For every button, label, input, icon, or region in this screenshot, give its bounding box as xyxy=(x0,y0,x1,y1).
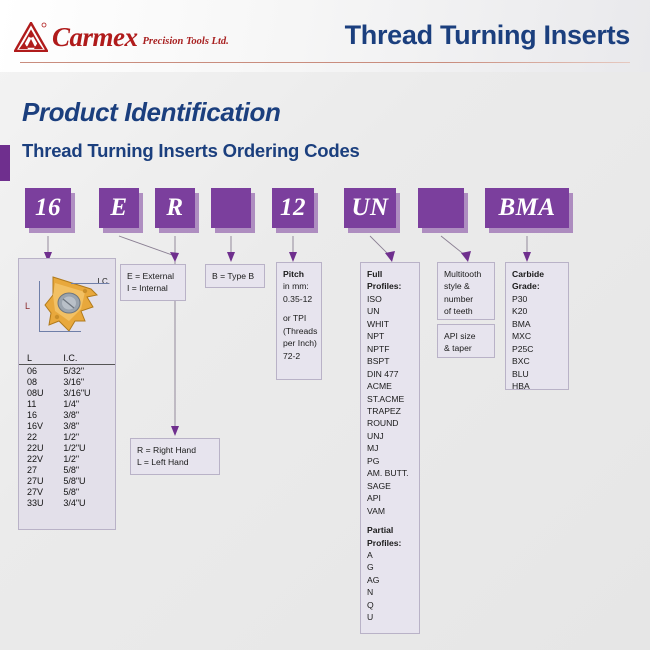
cell-l: 08 xyxy=(19,376,59,387)
table-header-l: L xyxy=(19,353,59,365)
cell-l: 16 xyxy=(19,409,59,420)
profile-item: DIN 477 xyxy=(367,368,413,380)
code-box-label: 16 xyxy=(35,194,61,222)
profile-item: UN xyxy=(367,305,413,317)
profile-item: SAGE xyxy=(367,480,413,492)
cell-l: 11 xyxy=(19,398,59,409)
profile-item: ACME xyxy=(367,380,413,392)
cell-ic: 3/8" xyxy=(59,420,115,431)
profile-item: NPTF xyxy=(367,343,413,355)
grade-item: K20 xyxy=(512,305,562,317)
dimension-line-vertical xyxy=(39,281,40,331)
profile-item: AM. BUTT. xyxy=(367,467,413,479)
partial-profile-item: U xyxy=(367,611,413,623)
partial-profile-item: G xyxy=(367,561,413,573)
table-row: 08U3/16"U xyxy=(19,387,115,398)
cell-ic: 5/32" xyxy=(59,365,115,377)
table-row: 111/4" xyxy=(19,398,115,409)
carmex-triangle-logo-icon xyxy=(14,22,48,52)
profile-item: API xyxy=(367,492,413,504)
code-box-label: E xyxy=(110,194,127,222)
hand-direction-box: R = Right Hand L = Left Hand xyxy=(130,438,220,475)
cell-ic: 1/2"U xyxy=(59,442,115,453)
partial-profiles-header-2: Profiles: xyxy=(367,537,413,549)
brand-tagline: Precision Tools Ltd. xyxy=(143,36,229,47)
pitch-tpi-label: or TPI xyxy=(283,312,315,324)
grade-list: P30K20BMAMXCP25CBXCBLUHBA xyxy=(512,293,562,393)
profiles-box: Full Profiles: ISOUNWHITNPTNPTFBSPTDIN 4… xyxy=(360,262,420,634)
dimension-line-horizontal xyxy=(39,331,81,332)
profile-item: ISO xyxy=(367,293,413,305)
table-header-ic: I.C. xyxy=(59,353,115,365)
code-box-grade[interactable]: BMA xyxy=(485,188,569,228)
grade-header-1: Carbide xyxy=(512,268,562,280)
multitooth-line-4: of teeth xyxy=(444,305,488,317)
cell-ic: 5/8"U xyxy=(59,475,115,486)
cell-ic: 1/2" xyxy=(59,453,115,464)
full-profiles-header-1: Full xyxy=(367,268,413,280)
left-hand-line: L = Left Hand xyxy=(137,456,213,468)
partial-profile-item: A xyxy=(367,549,413,561)
profile-item: PG xyxy=(367,455,413,467)
external-line: E = External xyxy=(127,270,179,282)
api-line-2: & taper xyxy=(444,342,488,354)
pitch-range-tpi: 72-2 xyxy=(283,350,315,362)
cell-ic: 3/16"U xyxy=(59,387,115,398)
code-box-hand[interactable]: E xyxy=(99,188,139,228)
table-row: 16V3/8" xyxy=(19,420,115,431)
grade-item: P25C xyxy=(512,343,562,355)
profiles-spacer xyxy=(367,517,413,524)
pitch-header: Pitch xyxy=(283,268,315,280)
multitooth-box: Multitooth style & number of teeth xyxy=(437,262,495,320)
cell-ic: 3/8" xyxy=(59,409,115,420)
partial-profiles-list: AGAGNQU xyxy=(367,549,413,624)
cell-ic: 5/8" xyxy=(59,486,115,497)
table-header-row: L I.C. xyxy=(19,353,115,365)
table-row: 27V5/8" xyxy=(19,486,115,497)
cell-ic: 3/4"U xyxy=(59,497,115,508)
pitch-spacer xyxy=(283,305,315,312)
multitooth-line-3: number xyxy=(444,293,488,305)
table-row: 221/2" xyxy=(19,431,115,442)
full-profiles-list: ISOUNWHITNPTNPTFBSPTDIN 477ACMEST.ACMETR… xyxy=(367,293,413,517)
code-box-multitooth[interactable] xyxy=(418,188,464,228)
code-box-size[interactable]: 16 xyxy=(25,188,71,228)
profile-item: TRAPEZ xyxy=(367,405,413,417)
cell-l: 16V xyxy=(19,420,59,431)
page-subtitle: Thread Turning Inserts Ordering Codes xyxy=(22,140,360,162)
brand-name: Carmex xyxy=(52,24,138,51)
grade-item: P30 xyxy=(512,293,562,305)
header-title: Thread Turning Inserts xyxy=(345,20,630,51)
cell-ic: 3/16" xyxy=(59,376,115,387)
page-title: Product Identification xyxy=(22,97,280,128)
cell-l: 27V xyxy=(19,486,59,497)
carbide-grade-box: Carbide Grade: P30K20BMAMXCP25CBXCBLUHBA xyxy=(505,262,569,390)
insert-figure: I.C. L xyxy=(19,259,115,351)
pitch-tpi-desc1: (Threads xyxy=(283,325,315,337)
code-box-pitch[interactable]: 12 xyxy=(272,188,314,228)
partial-profile-item: N xyxy=(367,586,413,598)
table-body: 065/32"083/16"08U3/16"U111/4"163/8"16V3/… xyxy=(19,365,115,509)
page-header: Carmex Precision Tools Ltd. Thread Turni… xyxy=(0,0,650,72)
code-box-type-dir[interactable]: R xyxy=(155,188,195,228)
pitch-tpi-desc2: per Inch) xyxy=(283,337,315,349)
brand-logo: Carmex Precision Tools Ltd. xyxy=(14,22,229,52)
profile-item: VAM xyxy=(367,505,413,517)
cell-l: 27U xyxy=(19,475,59,486)
profile-item: BSPT xyxy=(367,355,413,367)
grade-item: BLU xyxy=(512,368,562,380)
table-row: 083/16" xyxy=(19,376,115,387)
profile-item: NPT xyxy=(367,330,413,342)
grade-item: MXC xyxy=(512,330,562,342)
type-line: B = Type B xyxy=(212,270,258,282)
page-root: Carmex Precision Tools Ltd. Thread Turni… xyxy=(0,0,650,650)
grade-item: BXC xyxy=(512,355,562,367)
external-internal-box: E = External I = Internal xyxy=(120,264,186,301)
partial-profile-item: Q xyxy=(367,599,413,611)
cell-ic: 1/4" xyxy=(59,398,115,409)
pitch-range-mm: 0.35-12 xyxy=(283,293,315,305)
cell-l: 27 xyxy=(19,464,59,475)
profile-item: MJ xyxy=(367,442,413,454)
api-box: API size & taper xyxy=(437,324,495,358)
profile-item: WHIT xyxy=(367,318,413,330)
header-divider xyxy=(20,62,630,63)
code-box-label: UN xyxy=(351,194,388,222)
cell-l: 22U xyxy=(19,442,59,453)
cell-l: 08U xyxy=(19,387,59,398)
pitch-box: Pitch in mm: 0.35-12 or TPI (Threads per… xyxy=(276,262,322,380)
cell-l: 22 xyxy=(19,431,59,442)
cell-ic: 1/2" xyxy=(59,431,115,442)
table-row: 22V1/2" xyxy=(19,453,115,464)
table-row: 22U1/2"U xyxy=(19,442,115,453)
api-line-1: API size xyxy=(444,330,488,342)
partial-profile-item: AG xyxy=(367,574,413,586)
accent-bar xyxy=(0,145,10,181)
table-row: 27U5/8"U xyxy=(19,475,115,486)
size-table: L I.C. 065/32"083/16"08U3/16"U111/4"163/… xyxy=(19,353,115,508)
multitooth-line-1: Multitooth xyxy=(444,268,488,280)
profile-item: ST.ACME xyxy=(367,393,413,405)
type-box: B = Type B xyxy=(205,264,265,288)
l-dimension-label: L xyxy=(25,301,30,311)
grade-header-2: Grade: xyxy=(512,280,562,292)
table-row: 275/8" xyxy=(19,464,115,475)
code-box-label: R xyxy=(166,194,183,222)
profile-item: UNJ xyxy=(367,430,413,442)
insert-dimension-panel: I.C. L L I.C. 065/32"083/16 xyxy=(18,258,116,530)
right-hand-line: R = Right Hand xyxy=(137,444,213,456)
table-row: 33U3/4"U xyxy=(19,497,115,508)
table-row: 065/32" xyxy=(19,365,115,377)
partial-profiles-header-1: Partial xyxy=(367,524,413,536)
dimension-line-ic xyxy=(71,283,109,284)
code-box-label: 12 xyxy=(280,194,306,222)
table-row: 163/8" xyxy=(19,409,115,420)
ic-dimension-label: I.C. xyxy=(98,277,110,286)
grade-item: HBA xyxy=(512,380,562,392)
code-box-label: BMA xyxy=(498,194,555,222)
internal-line: I = Internal xyxy=(127,282,179,294)
cell-l: 22V xyxy=(19,453,59,464)
cell-l: 06 xyxy=(19,365,59,377)
cell-l: 33U xyxy=(19,497,59,508)
full-profiles-header-2: Profiles: xyxy=(367,280,413,292)
code-box-type[interactable] xyxy=(211,188,251,228)
pitch-unit: in mm: xyxy=(283,280,315,292)
grade-item: BMA xyxy=(512,318,562,330)
threading-insert-illustration xyxy=(19,259,117,351)
profile-item: ROUND xyxy=(367,417,413,429)
code-box-profile[interactable]: UN xyxy=(344,188,396,228)
cell-ic: 5/8" xyxy=(59,464,115,475)
multitooth-line-2: style & xyxy=(444,280,488,292)
